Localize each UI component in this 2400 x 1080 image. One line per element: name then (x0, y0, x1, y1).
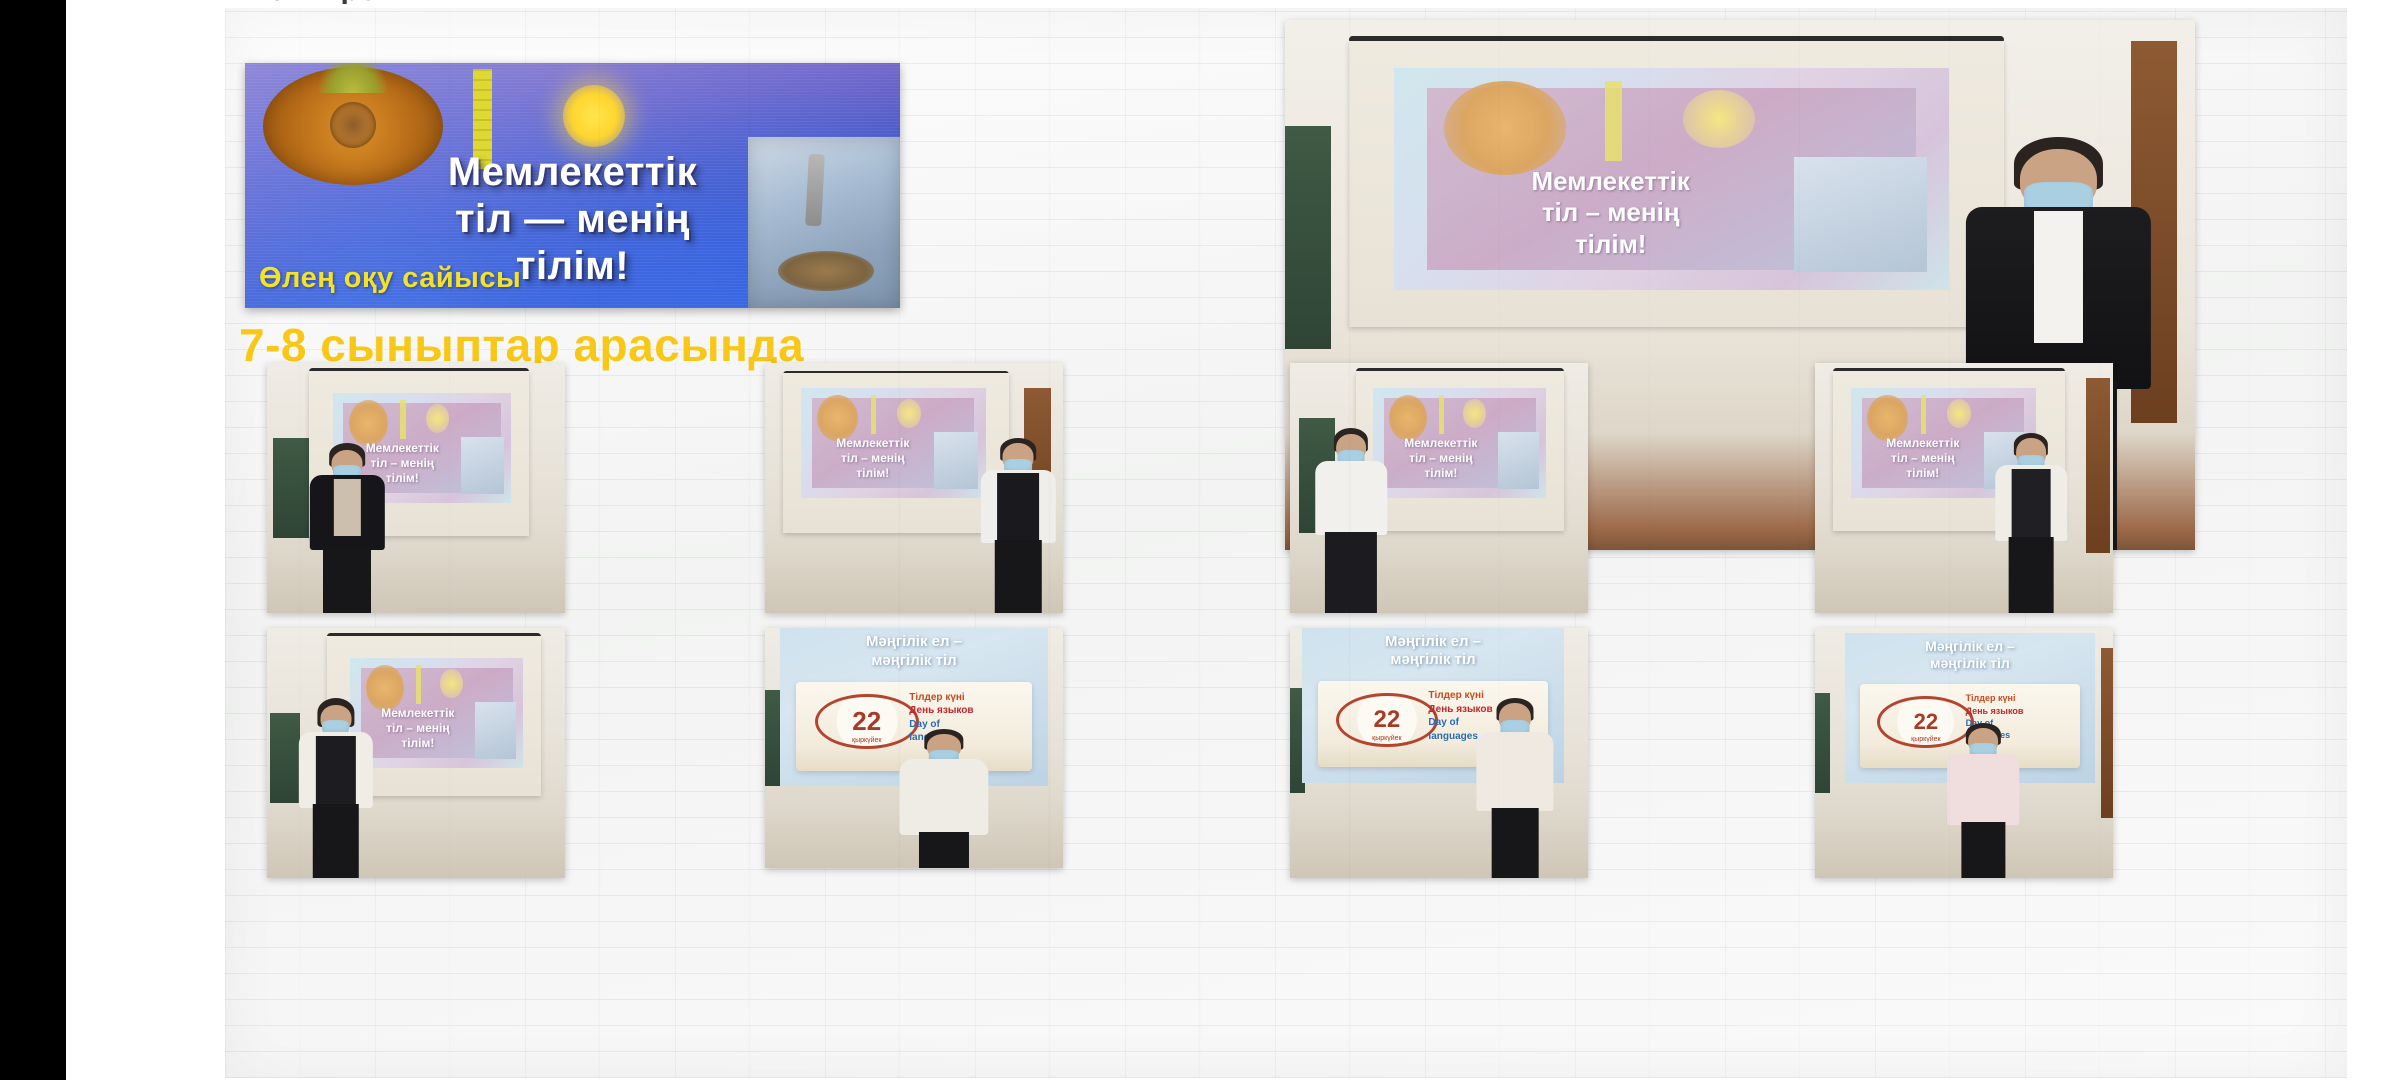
text-ru: День языков (909, 704, 1022, 718)
slide-monument-image (1498, 432, 1539, 489)
student-figure (1994, 433, 2069, 613)
chalkboard (1285, 126, 1331, 349)
slide-sun-icon (426, 404, 449, 433)
slide-text: Мемлекеттік тіл – менің тілім! (1858, 436, 1987, 480)
door (2101, 648, 2113, 818)
torso-blouse (1315, 461, 1387, 535)
student-figure (1475, 698, 1555, 878)
projected-slide: Мемлекеттік тіл – менің тілім! (1373, 388, 1546, 498)
legs (323, 547, 371, 613)
slide-ornament-icon (871, 395, 877, 435)
text-ru: День языков (1966, 705, 2072, 717)
vest (997, 473, 1039, 540)
slide-ornament-icon (1439, 395, 1444, 435)
photo-girl-1: Мемлекеттік тіл – менің тілім! (267, 363, 565, 613)
legs (312, 804, 358, 878)
skirt-legs (1325, 532, 1377, 613)
slide-text-line1: Мемлекеттік (808, 436, 937, 451)
slide-text-line3: тілім! (1380, 466, 1501, 481)
slide-coat-of-arms-icon (817, 395, 858, 441)
student-figure (297, 698, 374, 878)
student-figure (980, 438, 1057, 613)
slide-title: Мәңгілік ел – мәңгілік тіл (1855, 638, 2085, 673)
projected-slide: Мемлекеттік тіл – менің тілім! (801, 388, 986, 498)
slide-text-line1: Мемлекеттік (357, 706, 478, 721)
slide-text-line1: Мемлекеттік (1380, 436, 1501, 451)
chalkboard (270, 713, 300, 803)
student-figure (1314, 428, 1389, 613)
slide-title: Мәңгілік ел – мәңгілік тіл (1312, 633, 1553, 671)
legs (995, 540, 1041, 614)
slide-text-line3: тілім! (357, 736, 478, 751)
slide-text: Мемлекеттік тіл – менің тілім! (1380, 436, 1501, 480)
legs (2009, 537, 2054, 613)
slide-text-line1: Мемлекеттік (1858, 436, 1987, 451)
slide-text-line2: тіл – менің (357, 721, 478, 736)
chalkboard (1815, 693, 1830, 793)
slide-text-line3: тілім! (808, 466, 937, 481)
slide-text-line3: тілім! (1858, 466, 1987, 481)
projected-slide: Мемлекеттік тіл – менің тілім! (1394, 68, 1949, 291)
poster-subtitle: Өлең оқу сайысы (259, 262, 521, 295)
slide-text-line2: тіл – менің (1858, 451, 1987, 466)
slide-ornament-icon (1921, 395, 1927, 435)
slide-title-line2: мәңгілік тіл (791, 652, 1038, 671)
vest (2012, 469, 2051, 537)
photo-girl-2: Мемлекеттік тіл – менің тілім! (1290, 363, 1588, 613)
photo-collage-board: Мемлекеттік тіл — менің тілім! Өлең оқу … (225, 8, 2347, 1078)
slide-title-line1: Мәңгілік ел – (1312, 633, 1553, 652)
slide-title: Мәңгілік ел – мәңгілік тіл (791, 633, 1038, 671)
slide-ornament-icon (1605, 81, 1622, 161)
student-figure (1946, 723, 2021, 878)
sun-icon (563, 85, 625, 147)
slide-title-line1: Мәңгілік ел – (791, 633, 1038, 652)
slide-text-line3: тілім! (1416, 229, 1805, 261)
photo-boy-2: Мемлекеттік тіл – менің тілім! (1815, 363, 2113, 613)
photo-boy-4: Мәңгілік ел – мәңгілік тіл 22 қыркүйек Т… (1290, 628, 1588, 878)
slide-text-line1: Мемлекеттік (1416, 166, 1805, 198)
slide-sun-icon (1947, 399, 1971, 428)
slide-sun-icon (1683, 90, 1755, 148)
slide-title-line1: Мәңгілік ел – (1855, 638, 2085, 656)
door (2086, 378, 2110, 553)
student-figure (899, 729, 988, 868)
poster-title-line2: тіл — менің (245, 196, 900, 243)
slide-left-black-bar (0, 0, 66, 1080)
photo-boy-3: Мәңгілік ел – мәңгілік тіл 22 қыркүйек Т… (765, 628, 1063, 868)
shirt (334, 479, 360, 537)
slide-monument-image (475, 702, 516, 759)
clipped-slide-title: тілі-тірегім (250, 0, 1150, 4)
slide-canvas: тілі-тірегім Мемлекеттік тіл — менің тіл… (0, 0, 2400, 1080)
slide-monument-image (934, 432, 978, 489)
text-kk: Тілдер күні (1966, 692, 2072, 704)
photo-boy-vest: Мемлекеттік тіл – менің тілім! (765, 363, 1063, 613)
slide-title-line2: мәңгілік тіл (1312, 651, 1553, 670)
slide-text: Мемлекеттік тіл – менің тілім! (808, 436, 937, 480)
slide-text: Мемлекеттік тіл – менің тілім! (1416, 166, 1805, 261)
seal-month: қыркүйек (1339, 735, 1435, 742)
projected-slide: Мемлекеттік тіл – менің тілім! (350, 658, 523, 768)
slide-sun-icon (1463, 399, 1485, 428)
slide-text: Мемлекеттік тіл – менің тілім! (357, 706, 478, 750)
vest (315, 736, 355, 804)
legs (919, 832, 969, 868)
slide-ornament-icon (400, 400, 405, 440)
slide-coat-of-arms-icon (1389, 395, 1427, 441)
photo-girl-3: Мемлекеттік тіл – менің тілім! (267, 628, 565, 878)
slide-monument-image (461, 437, 504, 494)
torso-shirt (1948, 754, 2020, 825)
anniversary-seal: 22 қыркүйек (1336, 693, 1438, 747)
slide-sun-icon (440, 669, 462, 698)
photo-poster: Мемлекеттік тіл — менің тілім! Өлең оқу … (245, 63, 900, 308)
student-figure (309, 443, 386, 613)
slide-coat-of-arms-icon (1444, 81, 1566, 174)
chalkboard (273, 438, 309, 538)
slide-title-line2: мәңгілік тіл (1855, 655, 2085, 673)
slide-coat-of-arms-icon (349, 400, 388, 446)
photo-boy-5: Мәңгілік ел – мәңгілік тіл 22 қыркүйек Т… (1815, 628, 2113, 878)
slide-text-line2: тіл – менің (808, 451, 937, 466)
legs (1492, 808, 1539, 878)
torso-shirt (1476, 732, 1553, 811)
slide-monument-image (1794, 157, 1927, 273)
shirt (2034, 211, 2082, 343)
poster-title-line1: Мемлекеттік (245, 149, 900, 196)
slide-text-line2: тіл – менің (1380, 451, 1501, 466)
slide-sun-icon (897, 399, 921, 428)
slide-text-line2: тіл – менің (1416, 197, 1805, 229)
slide-ornament-icon (416, 665, 421, 705)
torso-shirt (899, 759, 988, 834)
slide-coat-of-arms-icon (1867, 395, 1908, 441)
text-kk: Тілдер күні (909, 691, 1022, 705)
legs (1962, 822, 2005, 878)
